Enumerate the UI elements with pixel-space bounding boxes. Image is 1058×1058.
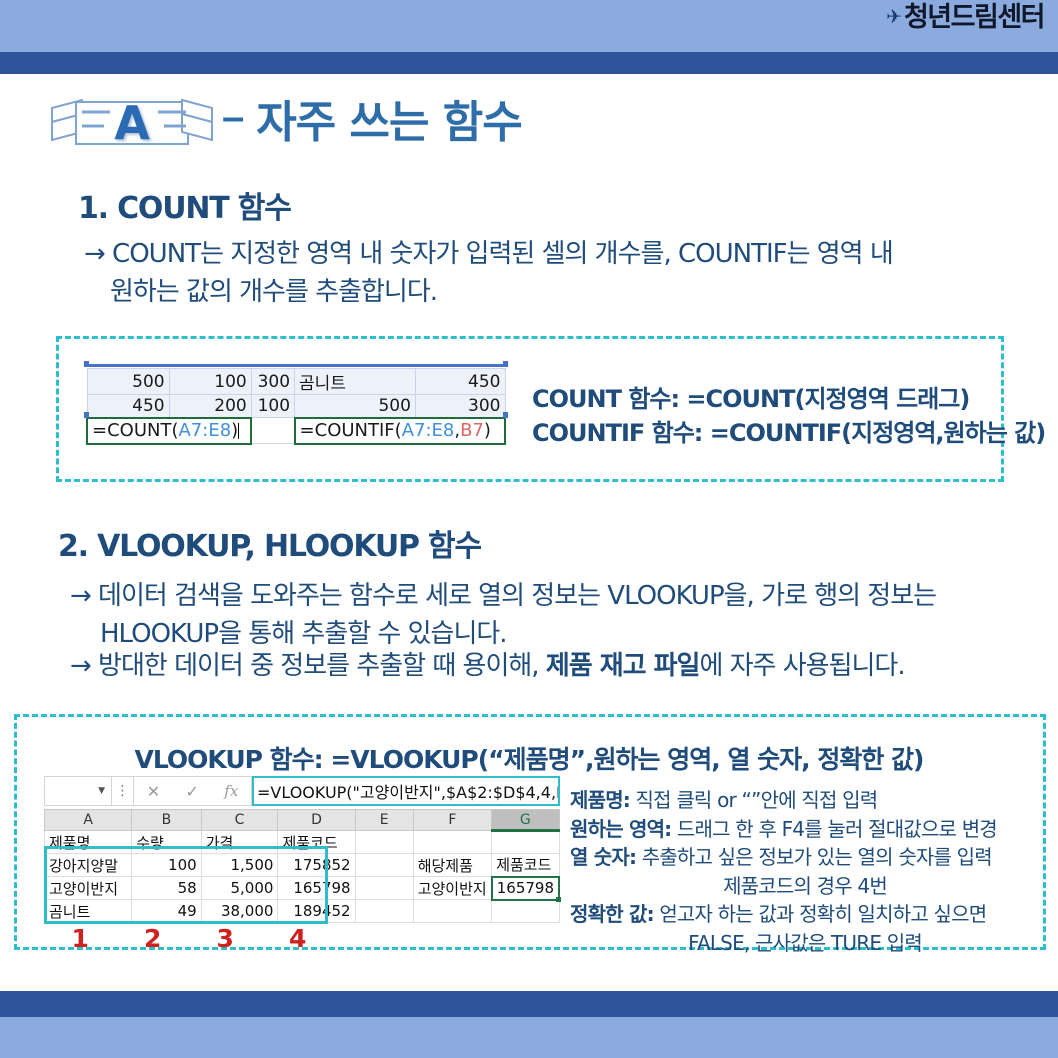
cell-e4[interactable]	[355, 900, 413, 923]
range-handle-tr[interactable]	[503, 361, 508, 367]
column-number-3: 3	[189, 924, 262, 953]
cell-d7[interactable]: 곰니트	[295, 369, 416, 395]
cell-a3[interactable]: 고양이반지	[45, 877, 132, 900]
cell-b4[interactable]: 49	[132, 900, 201, 923]
table-row: 고양이반지 58 5,000 165798 고양이반지 165798	[45, 877, 560, 900]
section1-line2: 원하는 값의 개수를 추출합니다.	[84, 274, 1004, 312]
excel-grid: A B C D E F G 제품명 수량 가격 제품코드 강아지양말 100 1…	[44, 809, 560, 923]
cell-f1[interactable]	[413, 831, 492, 854]
column-number-4: 4	[262, 924, 335, 953]
arg-label-1: 원하는 영역:	[570, 817, 671, 841]
range-handle-tl[interactable]	[84, 361, 89, 367]
cell-g3-selected[interactable]: 165798	[492, 877, 559, 900]
cell-b1[interactable]: 수량	[132, 831, 201, 854]
table-row: 500 100 300 곰니트 450	[87, 369, 505, 395]
vlookup-caption: VLOOKUP 함수: =VLOOKUP(“제품명”,원하는 영역, 열 숫자,…	[0, 740, 1058, 776]
cell-e1[interactable]	[355, 831, 413, 854]
table-row: 450 200 100 500 300	[87, 395, 505, 418]
cell-g2[interactable]: 제품코드	[492, 854, 559, 877]
page-title: A – 자주 쓰는 함수	[46, 92, 522, 154]
count-desc-line1: COUNT 함수: =COUNT(지정영역 드래그)	[532, 382, 1045, 416]
arg-center-3: FALSE, 근사값은 TURE 입력	[570, 929, 1040, 958]
cell-b2[interactable]: 100	[132, 854, 201, 877]
cell-a1[interactable]: 제품명	[45, 831, 132, 854]
footer-bar-light	[0, 1017, 1058, 1058]
arg-text-0: 직접 클릭 or “”안에 직접 입력	[630, 788, 877, 812]
section2-line3a: → 방대한 데이터 중 정보를 추출할 때 용이해,	[70, 651, 546, 681]
column-header-c[interactable]: C	[201, 810, 278, 831]
countif-formula-prefix: =COUNTIF(	[300, 420, 402, 441]
table-row: 곰니트 49 38,000 189452	[45, 900, 560, 923]
cell-f3[interactable]: 고양이반지	[413, 877, 492, 900]
cell-c8[interactable]: 100	[251, 395, 294, 418]
section1-description: → COUNT는 지정한 영역 내 숫자가 입력된 셀의 개수를, COUNTI…	[84, 236, 1004, 311]
bird-icon: ✈	[886, 8, 902, 27]
section2-description-1: → 데이터 검색을 도와주는 함수로 세로 열의 정보는 VLOOKUP을, 가…	[70, 578, 1010, 653]
section2-heading: 2. VLOOKUP, HLOOKUP 함수	[58, 530, 481, 563]
cell-d1[interactable]: 제품코드	[278, 831, 355, 854]
arg-label-0: 제품명:	[570, 788, 630, 812]
cell-count-formula[interactable]: =COUNT(A7:E8)	[87, 418, 251, 444]
column-number-2: 2	[117, 924, 190, 953]
countif-formula-ref2: B7	[460, 420, 484, 441]
footer-bar-dark	[0, 991, 1058, 1017]
arg-item: 열 숫자: 추출하고 싶은 정보가 있는 열의 숫자를 입력 제품코드의 경우 …	[570, 843, 1040, 900]
table-row: 강아지양말 100 1,500 175852 해당제품 제품코드	[45, 854, 560, 877]
cell-c1[interactable]: 가격	[201, 831, 278, 854]
title-dash: –	[222, 97, 244, 137]
cell-f4[interactable]	[413, 900, 492, 923]
section2-line1: → 데이터 검색을 도와주는 함수로 세로 열의 정보는 VLOOKUP을, 가…	[70, 578, 1010, 616]
chevron-down-icon[interactable]: ▼	[98, 786, 105, 796]
cell-e3[interactable]	[355, 877, 413, 900]
cell-f2[interactable]: 해당제품	[413, 854, 492, 877]
range-top-rule	[86, 364, 506, 367]
cell-b7[interactable]: 100	[169, 369, 251, 395]
section2-line3c: 에 자주 사용됩니다.	[699, 651, 904, 681]
cell-g4[interactable]	[492, 900, 559, 923]
section1-line1: → COUNT는 지정한 영역 내 숫자가 입력된 셀의 개수를, COUNTI…	[84, 236, 1004, 274]
column-header-g[interactable]: G	[492, 810, 559, 831]
arg-item: 제품명: 직접 클릭 or “”안에 직접 입력	[570, 786, 1040, 815]
cell-d4[interactable]: 189452	[278, 900, 355, 923]
countif-formula-suffix: )	[484, 420, 491, 441]
header-bar-dark	[0, 52, 1058, 74]
section2-line3b: 제품 재고 파일	[546, 651, 700, 681]
cell-a8[interactable]: 450	[87, 395, 169, 418]
cell-e8[interactable]: 300	[415, 395, 505, 418]
count-table: 500 100 300 곰니트 450 450 200 100 500 300 …	[86, 368, 506, 445]
ribbon-banner-icon: A	[46, 92, 218, 154]
slide-root: ✈ 청년드림센터 A – 자주 쓰는 함수 1. COUNT 함수 → COUN…	[0, 0, 1058, 1058]
check-icon[interactable]: ✓	[185, 782, 198, 801]
arg-item: 정확한 값: 얻고자 하는 값과 정확히 일치하고 싶으면 FALSE, 근사값…	[570, 900, 1040, 957]
arg-item: 원하는 영역: 드래그 한 후 F4를 눌러 절대값으로 변경	[570, 815, 1040, 844]
ribbon-letter: A	[114, 96, 150, 150]
column-header-d[interactable]: D	[278, 810, 355, 831]
cell-d3[interactable]: 165798	[278, 877, 355, 900]
count-formula-suffix: )	[231, 420, 238, 441]
vlookup-argument-description: 제품명: 직접 클릭 or “”안에 직접 입력 원하는 영역: 드래그 한 후…	[570, 786, 1040, 958]
count-example-table: 500 100 300 곰니트 450 450 200 100 500 300 …	[86, 368, 506, 445]
cell-d8[interactable]: 500	[295, 395, 416, 418]
section2-description-2: → 방대한 데이터 중 정보를 추출할 때 용이해, 제품 재고 파일에 자주 …	[70, 648, 1030, 686]
fx-icon[interactable]: fx	[224, 782, 238, 800]
column-header-a[interactable]: A	[45, 810, 132, 831]
cell-e7[interactable]: 450	[415, 369, 505, 395]
arg-center-2: 제품코드의 경우 4번	[570, 872, 1040, 901]
column-header-f[interactable]: F	[413, 810, 492, 831]
more-icon[interactable]: ⋮	[112, 776, 134, 806]
countif-formula-ref1: A7:E8	[402, 420, 455, 441]
column-header-b[interactable]: B	[132, 810, 201, 831]
cell-c7[interactable]: 300	[251, 369, 294, 395]
title-text: 자주 쓰는 함수	[256, 101, 522, 145]
name-box[interactable]: ▼	[44, 776, 112, 806]
column-number-1: 1	[44, 924, 117, 953]
cell-empty-c[interactable]	[251, 418, 294, 444]
formula-bar-buttons: ✕ ✓ fx	[134, 776, 252, 806]
arg-label-3: 정확한 값:	[570, 902, 654, 926]
count-description: COUNT 함수: =COUNT(지정영역 드래그) COUNTIF 함수: =…	[532, 382, 1045, 450]
cell-countif-formula[interactable]: =COUNTIF(A7:E8,B7)	[295, 418, 505, 444]
count-formula-ref: A7:E8	[178, 420, 231, 441]
cell-c3[interactable]: 5,000	[201, 877, 278, 900]
cell-e2[interactable]	[355, 854, 413, 877]
cell-g1[interactable]	[492, 831, 559, 854]
column-header-e[interactable]: E	[355, 810, 413, 831]
arg-text-3: 얻고자 하는 값과 정확히 일치하고 싶으면	[654, 902, 987, 926]
cell-c2[interactable]: 1,500	[201, 854, 278, 877]
table-row: 제품명 수량 가격 제품코드	[45, 831, 560, 854]
cell-b8[interactable]: 200	[169, 395, 251, 418]
arg-label-2: 열 숫자:	[570, 845, 636, 869]
count-desc-line2: COUNTIF 함수: =COUNTIF(지정영역,원하는 값)	[532, 416, 1045, 450]
excel-window: ▼ ⋮ ✕ ✓ fx =VLOOKUP("고양이반지",$A$2:$D$4,4,…	[44, 776, 560, 923]
brand-logo-text: 청년드림센터	[904, 4, 1044, 31]
excel-formula-bar-row: ▼ ⋮ ✕ ✓ fx =VLOOKUP("고양이반지",$A$2:$D$4,4,…	[44, 776, 560, 806]
cell-d2[interactable]: 175852	[278, 854, 355, 877]
cell-b3[interactable]: 58	[132, 877, 201, 900]
cell-a7[interactable]: 500	[87, 369, 169, 395]
arg-text-2: 추출하고 싶은 정보가 있는 열의 숫자를 입력	[636, 845, 992, 869]
cell-c4[interactable]: 38,000	[201, 900, 278, 923]
count-formula-prefix: =COUNT(	[92, 420, 178, 441]
cell-a4[interactable]: 곰니트	[45, 900, 132, 923]
table-row-formula: =COUNT(A7:E8) =COUNTIF(A7:E8,B7)	[87, 418, 505, 444]
formula-input[interactable]: =VLOOKUP("고양이반지",$A$2:$D$4,4,FALSE)	[252, 776, 560, 806]
arg-text-1: 드래그 한 후 F4를 눌러 절대값으로 변경	[671, 817, 997, 841]
column-number-labels: 1 2 3 4	[44, 924, 334, 953]
column-header-row: A B C D E F G	[45, 810, 560, 831]
section1-heading: 1. COUNT 함수	[78, 192, 291, 225]
cell-a2[interactable]: 강아지양말	[45, 854, 132, 877]
close-icon[interactable]: ✕	[147, 782, 160, 801]
brand-logo: ✈ 청년드림센터	[886, 4, 1044, 31]
text-caret	[238, 423, 239, 439]
